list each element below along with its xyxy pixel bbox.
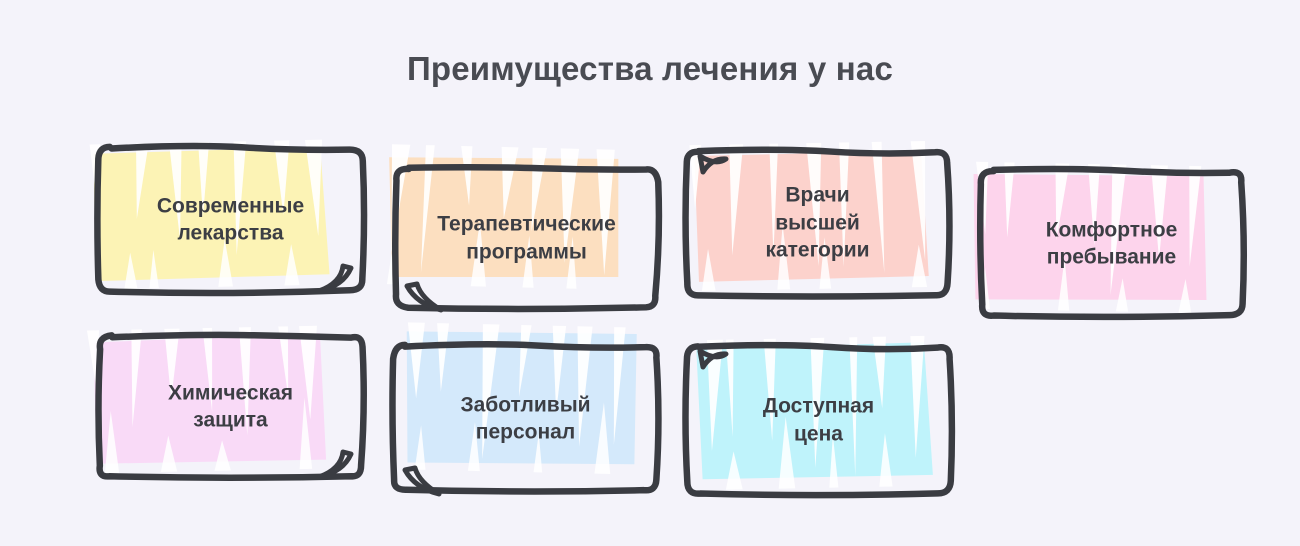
benefit-card-top-category-doctors[interactable]: Врачи высшей категории xyxy=(686,150,949,296)
benefit-card-caring-staff[interactable]: Заботливый персонал xyxy=(393,345,658,492)
card-label: Комфортное пребывание xyxy=(980,216,1243,271)
card-label: Врачи высшей категории xyxy=(686,181,949,264)
infographic-canvas: Преимущества лечения у нас Современные л… xyxy=(0,0,1300,546)
benefit-card-affordable-price[interactable]: Доступная цена xyxy=(686,345,951,495)
benefit-card-modern-medicines[interactable]: Современные лекарства xyxy=(98,147,363,292)
benefit-card-chemical-protection[interactable]: Химическая защита xyxy=(98,335,363,478)
card-label: Доступная цена xyxy=(686,392,951,447)
card-label: Терапевтические программы xyxy=(395,210,658,265)
card-label: Химическая защита xyxy=(98,379,363,434)
card-label: Заботливый персонал xyxy=(393,391,658,446)
card-label: Современные лекарства xyxy=(98,192,363,247)
page-title: Преимущества лечения у нас xyxy=(0,50,1300,88)
benefit-card-therapy-programs[interactable]: Терапевтические программы xyxy=(395,168,658,308)
benefit-card-comfortable-stay[interactable]: Комфортное пребывание xyxy=(980,170,1243,317)
